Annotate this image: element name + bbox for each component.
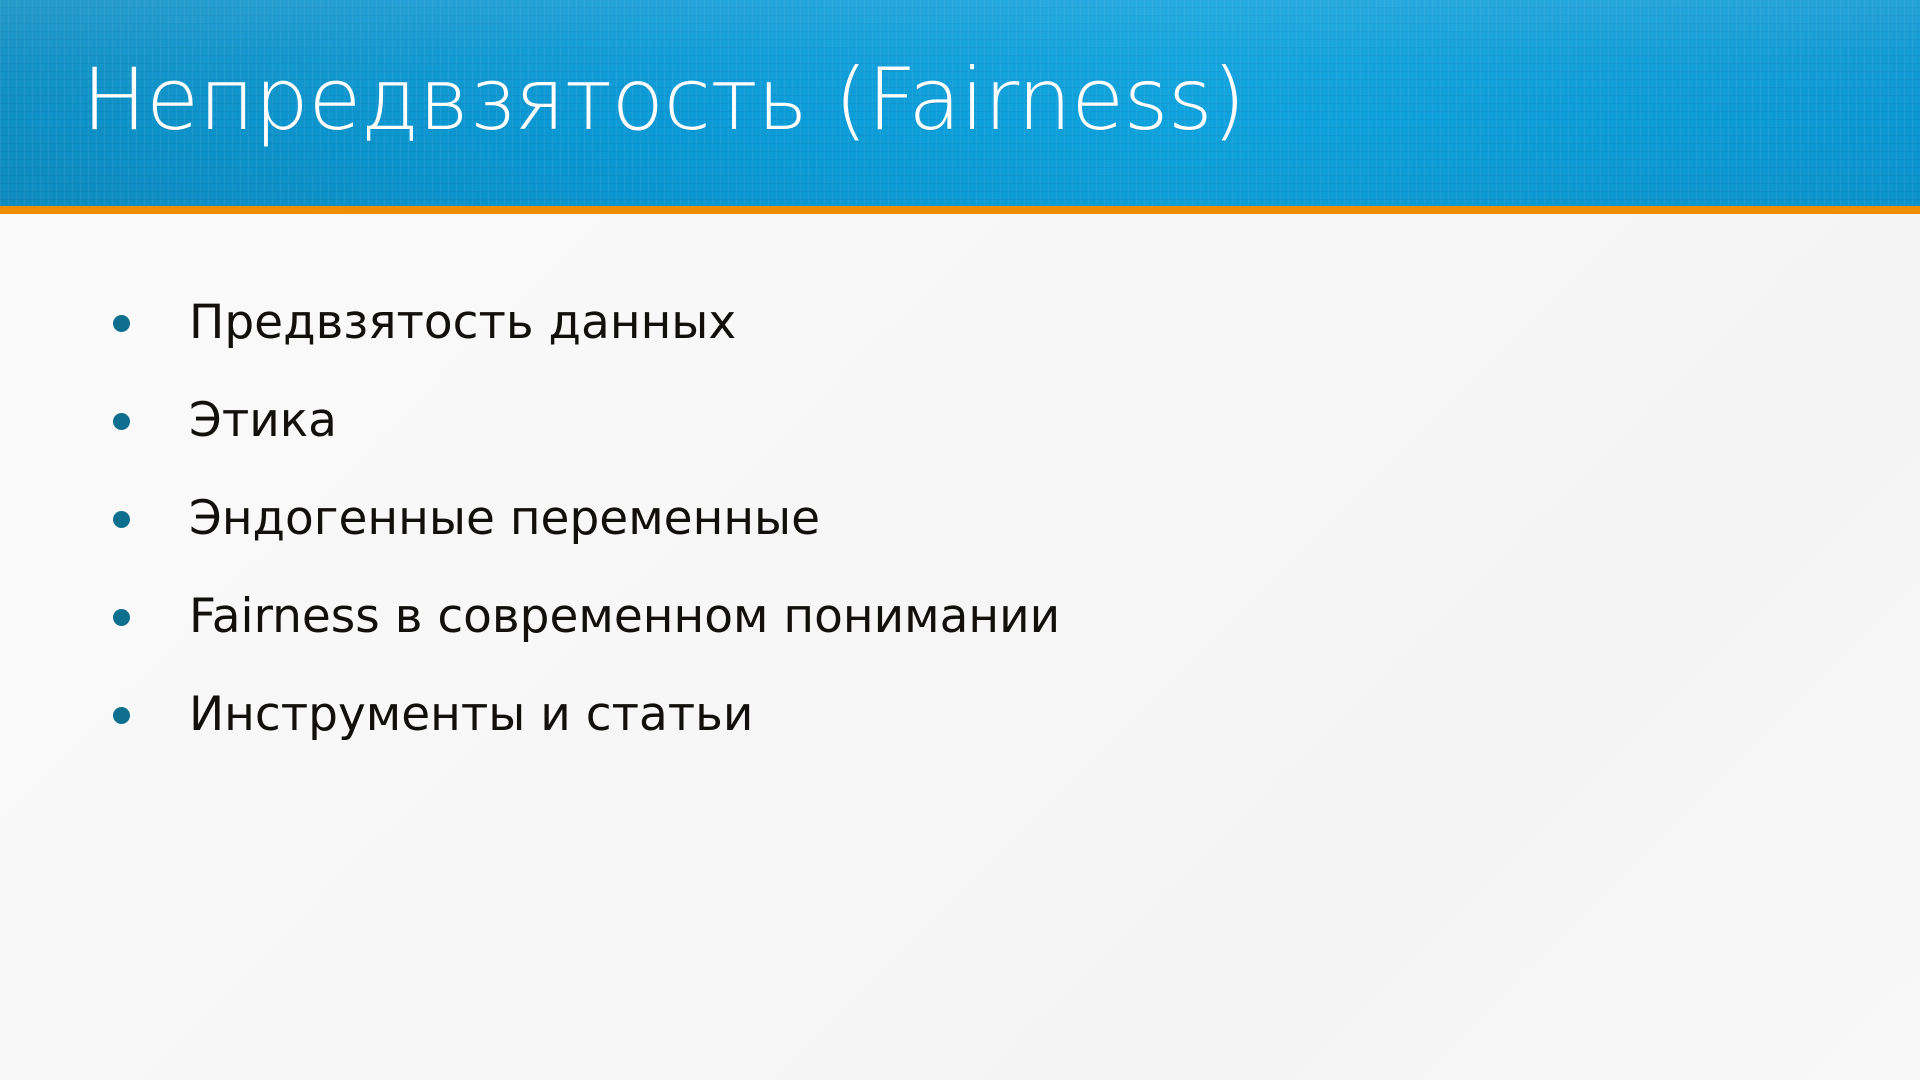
- list-item: Инструменты и статьи: [96, 666, 1796, 764]
- list-item: Fairness в современном понимании: [96, 568, 1796, 666]
- page-title: Непредвзятость (Fairness): [82, 44, 1822, 156]
- accent-divider: [0, 206, 1920, 214]
- list-item: Предвзятость данных: [96, 274, 1796, 372]
- slide-body: Предвзятость данных Этика Эндогенные пер…: [0, 214, 1920, 1080]
- list-item-label: Предвзятость данных: [189, 293, 736, 353]
- list-item-label: Этика: [189, 391, 337, 451]
- bullet-dot-icon: [113, 511, 130, 528]
- list-item: Эндогенные переменные: [96, 470, 1796, 568]
- list-item-label: Эндогенные переменные: [189, 489, 820, 549]
- presentation-slide: Непредвзятость (Fairness) Предвзятость д…: [0, 0, 1920, 1080]
- list-item-label: Инструменты и статьи: [189, 685, 753, 745]
- bullet-dot-icon: [113, 707, 130, 724]
- list-item-label: Fairness в современном понимании: [189, 587, 1060, 647]
- list-item: Этика: [96, 372, 1796, 470]
- slide-header-banner: Непредвзятость (Fairness): [0, 0, 1920, 206]
- bullet-dot-icon: [113, 609, 130, 626]
- bullet-list: Предвзятость данных Этика Эндогенные пер…: [96, 274, 1796, 764]
- bullet-dot-icon: [113, 413, 130, 430]
- bullet-dot-icon: [113, 315, 130, 332]
